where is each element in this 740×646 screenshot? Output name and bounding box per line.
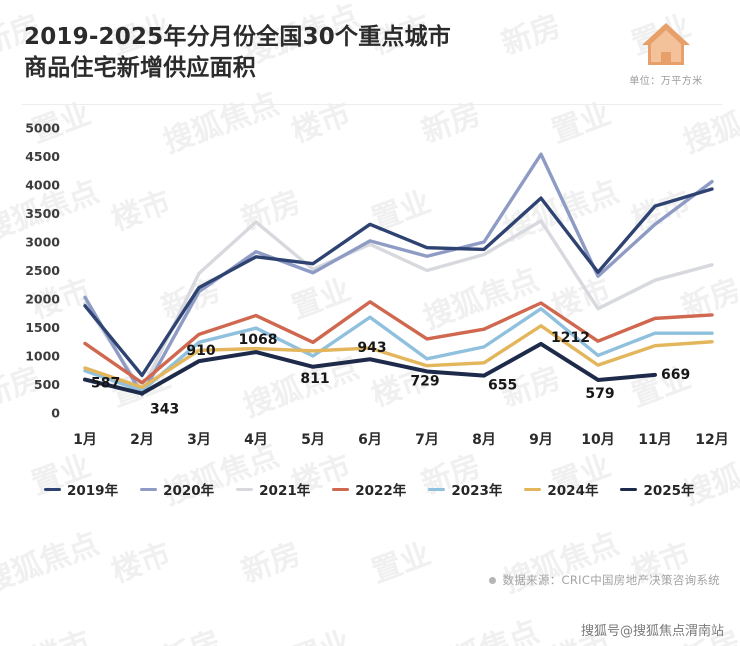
page-title-line-1: 2019-2025年分月份全国30个重点城市	[24, 24, 451, 50]
watermark-text: 楼市	[104, 529, 175, 591]
y-axis-tick-label: 4000	[25, 178, 60, 193]
bullet-icon	[489, 577, 496, 584]
legend-label: 2019年	[67, 479, 118, 499]
y-axis-tick-label: 2500	[25, 263, 60, 278]
legend-label: 2023年	[451, 479, 502, 499]
data-label: 669	[661, 367, 690, 383]
data-label: 943	[357, 340, 386, 356]
x-axis-tick-label: 9月	[529, 432, 553, 448]
legend-label: 2024年	[547, 479, 598, 499]
legend-item-2021年[interactable]: 2021年	[236, 479, 310, 499]
x-axis-ticks: 1月2月3月4月5月6月7月8月9月10月11月12月	[73, 432, 729, 448]
x-axis-tick-label: 8月	[472, 432, 496, 448]
watermark-text: 搜狐焦点	[496, 519, 624, 601]
legend-swatch-icon	[236, 488, 253, 491]
y-axis-tick-label: 2000	[25, 292, 60, 307]
y-axis-tick-label: 3000	[25, 235, 60, 250]
x-axis-tick-label: 3月	[187, 432, 211, 448]
data-source: 数据来源：CRIC中国房地产决策咨询系统	[489, 572, 720, 588]
header-divider	[22, 104, 722, 105]
legend-swatch-icon	[44, 488, 61, 491]
x-axis-tick-label: 1月	[73, 432, 97, 448]
legend-label: 2022年	[355, 479, 406, 499]
data-label: 655	[488, 378, 517, 394]
legend-label: 2025年	[643, 479, 694, 499]
watermark-text: 搜狐焦点	[0, 519, 104, 601]
y-axis-tick-label: 5000	[25, 121, 60, 136]
y-axis-tick-label: 500	[34, 377, 60, 392]
chart-series-lines	[85, 154, 712, 395]
x-axis-tick-label: 6月	[358, 432, 382, 448]
page-title-line-2: 商品住宅新增供应面积	[24, 53, 604, 84]
line-chart: 5000450040003500300025002000150010005000…	[0, 110, 740, 460]
watermark-text: 搜狐焦点	[416, 607, 544, 646]
data-label: 729	[410, 373, 439, 389]
legend-label: 2021年	[259, 479, 310, 499]
x-axis-tick-label: 7月	[415, 432, 439, 448]
data-label: 587	[91, 376, 120, 392]
legend-swatch-icon	[620, 488, 637, 491]
watermark-text: 新房	[154, 617, 225, 646]
data-label: 811	[300, 371, 329, 387]
data-label: 1068	[239, 332, 278, 348]
y-axis-tick-label: 4500	[25, 149, 60, 164]
legend-item-2023年[interactable]: 2023年	[428, 479, 502, 499]
y-axis-tick-label: 3500	[25, 206, 60, 221]
data-label: 910	[186, 343, 215, 359]
unit-label: 单位：万平方米	[610, 72, 722, 87]
legend-item-2022年[interactable]: 2022年	[332, 479, 406, 499]
x-axis-tick-label: 5月	[301, 432, 325, 448]
watermark-text: 新房	[234, 529, 305, 591]
watermark-text: 置业	[284, 617, 355, 646]
x-axis-tick-label: 12月	[695, 432, 728, 448]
watermark-text: 置业	[364, 529, 435, 591]
data-label: 1212	[551, 330, 590, 346]
x-axis-tick-label: 4月	[244, 432, 268, 448]
x-axis-tick-label: 10月	[581, 432, 614, 448]
legend-swatch-icon	[332, 488, 349, 491]
legend-item-2019年[interactable]: 2019年	[44, 479, 118, 499]
x-axis-tick-label: 2月	[130, 432, 154, 448]
legend-swatch-icon	[140, 488, 157, 491]
watermark-text: 楼市	[24, 617, 95, 646]
data-label: 579	[585, 386, 614, 402]
chart-header: 2019-2025年分月份全国30个重点城市 商品住宅新增供应面积 单位：万平方…	[0, 0, 740, 106]
legend-swatch-icon	[524, 488, 541, 491]
data-source-text: 数据来源：CRIC中国房地产决策咨询系统	[503, 572, 720, 588]
y-axis-ticks: 5000450040003500300025002000150010005000	[25, 121, 60, 421]
legend-item-2024年[interactable]: 2024年	[524, 479, 598, 499]
legend-item-2025年[interactable]: 2025年	[620, 479, 694, 499]
y-axis-tick-label: 1500	[25, 320, 60, 335]
x-axis-tick-label: 11月	[638, 432, 671, 448]
house-icon	[640, 20, 692, 68]
site-watermark: 搜狐号@搜狐焦点渭南站	[581, 620, 724, 639]
chart-legend: 2019年2020年2021年2022年2023年2024年2025年	[44, 478, 704, 500]
unit-block: 单位：万平方米	[610, 20, 722, 87]
legend-item-2020年[interactable]: 2020年	[140, 479, 214, 499]
data-label: 343	[150, 401, 179, 417]
y-axis-tick-label: 0	[51, 406, 60, 421]
chart-canvas: 5000450040003500300025002000150010005000…	[0, 110, 740, 460]
legend-label: 2020年	[163, 479, 214, 499]
page-title: 2019-2025年分月份全国30个重点城市 商品住宅新增供应面积	[24, 22, 604, 83]
y-axis-tick-label: 1000	[25, 349, 60, 364]
legend-swatch-icon	[428, 488, 445, 491]
